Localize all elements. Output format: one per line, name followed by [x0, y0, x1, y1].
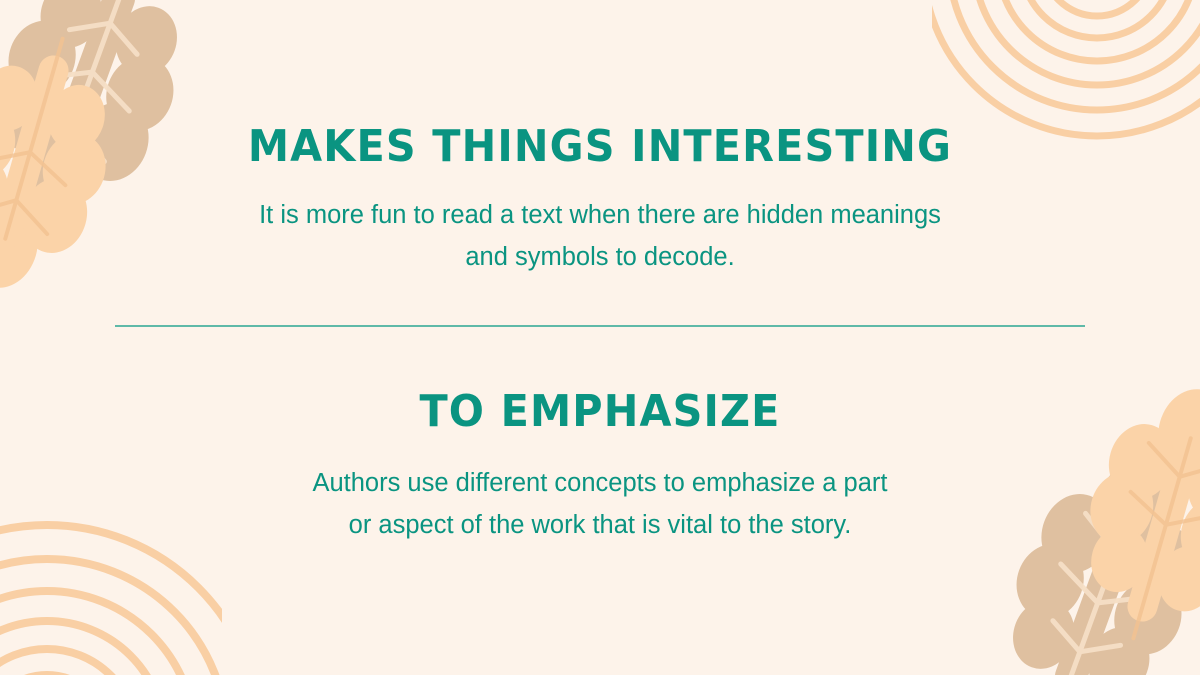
slide-content: MAKES THINGS INTERESTING It is more fun … — [0, 0, 1200, 675]
section-one-body-line-2: and symbols to decode. — [0, 236, 1200, 278]
section-two-body: Authors use different concepts to emphas… — [0, 462, 1200, 546]
divider-container — [0, 325, 1200, 327]
section-two-heading: TO EMPHASIZE — [36, 390, 1164, 434]
section-makes-things-interesting: MAKES THINGS INTERESTING It is more fun … — [0, 125, 1200, 278]
section-one-body-line-1: It is more fun to read a text when there… — [0, 194, 1200, 236]
section-one-body: It is more fun to read a text when there… — [0, 194, 1200, 278]
section-to-emphasize: TO EMPHASIZE Authors use different conce… — [0, 390, 1200, 546]
section-two-body-line-2: or aspect of the work that is vital to t… — [0, 504, 1200, 546]
slide-canvas: MAKES THINGS INTERESTING It is more fun … — [0, 0, 1200, 675]
section-one-heading: MAKES THINGS INTERESTING — [36, 125, 1164, 169]
section-divider — [115, 325, 1085, 327]
section-two-body-line-1: Authors use different concepts to emphas… — [0, 462, 1200, 504]
